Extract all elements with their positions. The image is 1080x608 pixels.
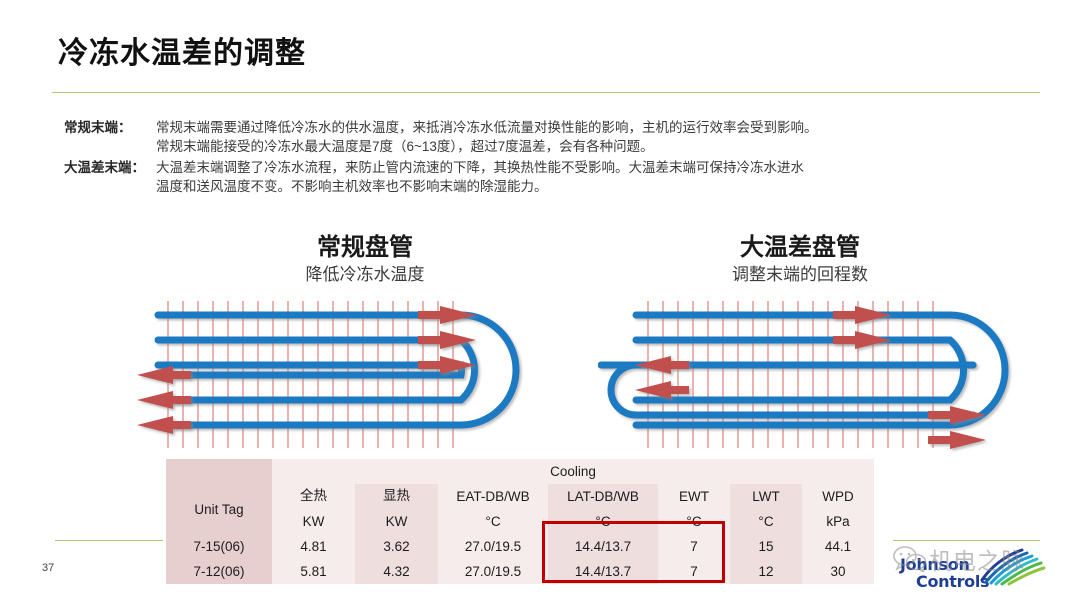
table-unit-lwt: °C [730,509,802,534]
body-row-conventional: 常规末端： 常规末端需要通过降低冷冻水的供水温度，来抵消冷冻水低流量对换性能的影… [64,118,1044,156]
body-line: 温度和送风温度不变。不影响主机效率也不影响末端的除湿能力。 [156,177,1044,196]
footer-divider-left [55,540,163,541]
table-cell-sensible-heat: 3.62 [355,534,438,559]
table-group-header-row: Cooling [166,459,874,484]
table-cell-eat-db-wb: 27.0/19.5 [438,559,548,584]
coil-pipes-left [158,315,516,425]
table-header-sensible-heat: 显热 [355,484,438,509]
coil-heading-right: 大温差盘管 调整末端的回程数 [640,232,960,288]
coil-heading-left: 常规盘管 降低冷冻水温度 [215,232,515,288]
body-line: 常规末端能接受的冷冻水最大温度是7度（6~13度），超过7度温差，会有各种问题。 [156,137,1044,156]
page-title: 冷冻水温差的调整 [58,28,306,72]
table-cell-ewt: 7 [658,559,730,584]
table-column-header-row: Unit Tag 全热 显热 EAT-DB/WB LAT-DB/WB EWT L… [166,484,874,509]
coil-diagram-conventional [128,298,538,458]
coil-heading-left-title: 常规盘管 [215,232,515,262]
body-paragraph-large-delta: 大温差末端调整了冷冻水流程，来防止管内流速的下降，其换热性能不受影响。大温差末端… [156,158,1044,196]
spec-table: Cooling Unit Tag 全热 显热 EAT-DB/WB LAT-DB/… [166,459,874,584]
table-unit-wpd: kPa [802,509,874,534]
table-cell-unit-tag: 7-12(06) [166,559,272,584]
wechat-icon [893,546,927,572]
page-number: 37 [42,562,54,574]
table-header-lat-db-wb: LAT-DB/WB [548,484,658,509]
table-header-lwt: LWT [730,484,802,509]
body-line: 大温差末端调整了冷冻水流程，来防止管内流速的下降，其换热性能不受影响。大温差末端… [156,158,1044,177]
table-cell-sensible-heat: 4.32 [355,559,438,584]
table-row: 7-15(06) 4.81 3.62 27.0/19.5 14.4/13.7 7… [166,534,874,559]
coil-heading-left-subtitle: 降低冷冻水温度 [215,262,515,288]
table-header-eat-db-wb: EAT-DB/WB [438,484,548,509]
table-cell-unit-tag: 7-15(06) [166,534,272,559]
table-unit-lat-db-wb: °C [548,509,658,534]
table-header-ewt: EWT [658,484,730,509]
table-cell-wpd: 30 [802,559,874,584]
table-cell-total-heat: 5.81 [272,559,355,584]
body-label-conventional: 常规末端： [64,118,156,137]
table-row: 7-12(06) 5.81 4.32 27.0/19.5 14.4/13.7 7… [166,559,874,584]
table-cell-total-heat: 4.81 [272,534,355,559]
coil-diagram-large-delta [598,298,1018,458]
coil-heading-right-title: 大温差盘管 [640,232,960,262]
body-paragraph-conventional: 常规末端需要通过降低冷冻水的供水温度，来抵消冷冻水低流量对换性能的影响，主机的运… [156,118,1044,156]
body-line: 常规末端需要通过降低冷冻水的供水温度，来抵消冷冻水低流量对换性能的影响，主机的运… [156,118,1044,137]
table-header-total-heat: 全热 [272,484,355,509]
table-unit-ewt: °C [658,509,730,534]
table-corner-cell [166,459,272,484]
table-cell-eat-db-wb: 27.0/19.5 [438,534,548,559]
title-divider [52,92,1040,93]
table-cell-lwt: 12 [730,559,802,584]
table-header-wpd: WPD [802,484,874,509]
table-unit-eat-db-wb: °C [438,509,548,534]
table-cell-lwt: 15 [730,534,802,559]
table-group-header-cooling: Cooling [272,459,874,484]
body-text-block: 常规末端： 常规末端需要通过降低冷冻水的供水温度，来抵消冷冻水低流量对换性能的影… [64,118,1044,198]
body-row-large-delta: 大温差末端： 大温差末端调整了冷冻水流程，来防止管内流速的下降，其换热性能不受影… [64,158,1044,196]
watermark-text: 机电之脉 [929,542,1025,576]
table-cell-wpd: 44.1 [802,534,874,559]
table-header-unit-tag: Unit Tag [166,484,272,534]
wechat-watermark: 机电之脉 [893,540,1068,580]
coil-arrows-left [137,306,476,434]
table-unit-row: KW KW °C °C °C °C kPa [166,509,874,534]
table-unit-total-heat: KW [272,509,355,534]
table-unit-sensible-heat: KW [355,509,438,534]
table-cell-ewt: 7 [658,534,730,559]
table-cell-lat-db-wb: 14.4/13.7 [548,559,658,584]
table-cell-lat-db-wb: 14.4/13.7 [548,534,658,559]
coil-heading-right-subtitle: 调整末端的回程数 [640,262,960,288]
body-label-large-delta: 大温差末端： [64,158,156,177]
